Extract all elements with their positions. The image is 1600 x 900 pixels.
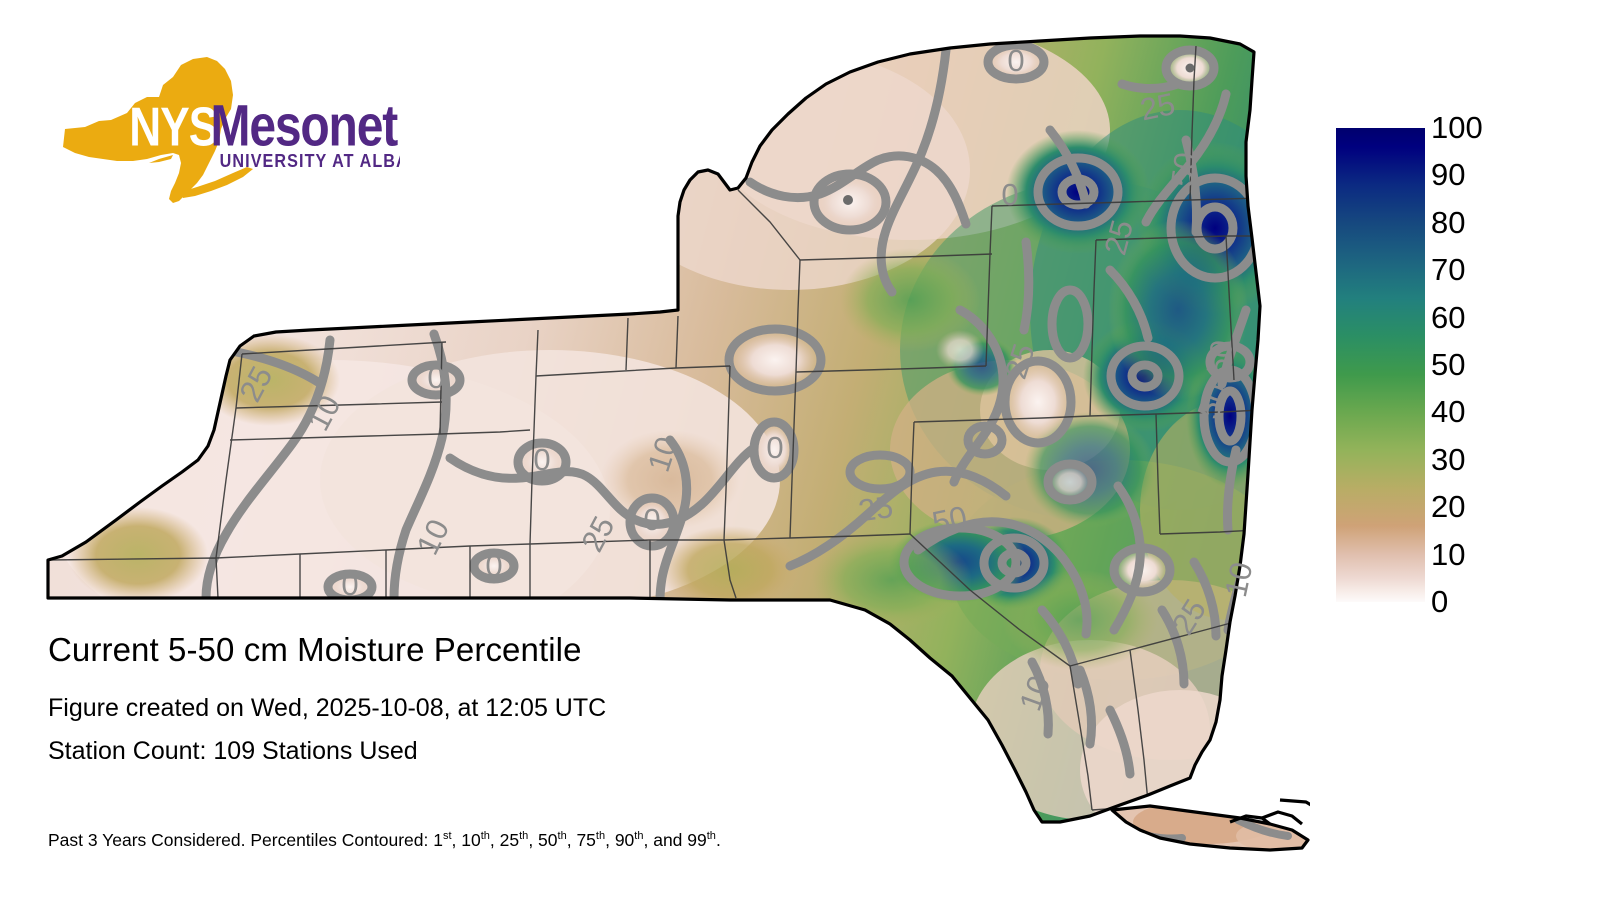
colorbar-tick-20: 20 <box>1431 488 1551 526</box>
ordinal-suffix: th <box>707 830 716 842</box>
figure-title: Current 5-50 cm Moisture Percentile <box>48 628 1048 672</box>
contour-label-0: 0 <box>1001 177 1018 212</box>
contour-label-10: 10 <box>1218 559 1259 600</box>
colorbar-tick-50: 50 <box>1431 346 1551 384</box>
contour-label-50: 50 <box>929 499 970 540</box>
figure-footnote: Past 3 Years Considered. Percentiles Con… <box>48 828 721 852</box>
contour-label-25: 25 <box>1137 86 1178 127</box>
colorbar-tick-10: 10 <box>1431 536 1551 574</box>
contour-label-0: 0 <box>766 430 783 465</box>
colorbar-tick-60: 60 <box>1431 299 1551 337</box>
colorbar-gradient-bar <box>1336 128 1425 602</box>
station-count-line: Station Count: 109 Stations Used <box>48 733 1048 770</box>
contour-label-50: 50 <box>1199 338 1239 378</box>
colorbar-tick-30: 30 <box>1431 441 1551 479</box>
ordinal-suffix: th <box>634 830 643 842</box>
contour-label-25: 25 <box>856 489 895 528</box>
ordinal-suffix: st <box>443 830 452 842</box>
contour-label-0: 0 <box>1007 43 1024 78</box>
contour-label-0: 0 <box>341 567 358 602</box>
figure-created-line: Figure created on Wed, 2025-10-08, at 12… <box>48 690 1048 727</box>
moisture-percentile-colorbar: 1009080706050403020100 <box>1336 128 1596 608</box>
figure-caption-block: Current 5-50 cm Moisture Percentile Figu… <box>48 628 1048 770</box>
colorbar-tick-70: 70 <box>1431 251 1551 289</box>
ordinal-suffix: th <box>558 830 567 842</box>
contour-label-0: 0 <box>643 502 660 537</box>
ordinal-suffix: th <box>481 830 490 842</box>
contour-label-0: 0 <box>533 442 550 477</box>
contour-label-50: 50 <box>1164 150 1203 189</box>
colorbar-tick-40: 40 <box>1431 393 1551 431</box>
colorbar-tick-80: 80 <box>1431 204 1551 242</box>
contour-label-0: 0 <box>427 360 444 395</box>
colorbar-tick-100: 100 <box>1431 109 1551 147</box>
contour-label-0: 0 <box>485 548 502 583</box>
colorbar-tick-90: 90 <box>1431 156 1551 194</box>
ordinal-suffix: th <box>519 830 528 842</box>
colorbar-tick-0: 0 <box>1431 583 1551 621</box>
colorbar-tick-labels: 1009080706050403020100 <box>1431 109 1561 621</box>
ordinal-suffix: th <box>596 830 605 842</box>
